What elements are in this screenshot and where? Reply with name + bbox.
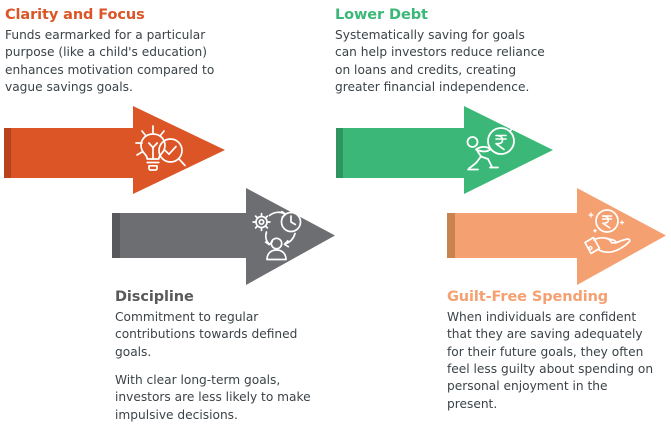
arrow-lower-debt-accent-tab [336,128,343,178]
text-block-guilt-free-spending: Guilt-Free Spending When individuals are… [447,288,659,413]
arrow-discipline-accent-tab [112,213,120,258]
heading-clarity: Clarity and Focus [5,6,215,24]
heading-discipline: Discipline [115,288,330,306]
arrow-guilt-free-spending [447,186,668,287]
body-guilt-free-p1: When individuals are confident that they… [447,309,659,413]
text-block-clarity: Clarity and Focus Funds earmarked for a … [5,6,215,96]
body-clarity-p1: Funds earmarked for a particular purpose… [5,27,215,96]
arrow-clarity-accent-tab [4,128,11,178]
text-block-lower-debt: Lower Debt Systematically saving for goa… [335,6,550,96]
arrow-guilt-free-body [455,188,666,285]
body-lower-debt-p1: Systematically saving for goals can help… [335,27,550,96]
body-discipline-p2: With clear long-term goals, investors ar… [115,372,330,424]
arrow-clarity-body [11,106,225,194]
arrow-lower-debt [336,106,555,194]
arrow-discipline-body [120,188,335,285]
infographic-canvas: Clarity and Focus Funds earmarked for a … [0,0,671,419]
heading-lower-debt: Lower Debt [335,6,550,24]
text-block-discipline: Discipline Commitment to regular contrib… [115,288,330,424]
heading-guilt-free-spending: Guilt-Free Spending [447,288,659,306]
arrow-guilt-free-accent-tab [447,213,455,258]
arrow-clarity [4,106,228,194]
arrow-discipline [112,186,338,287]
arrow-lower-debt-body [343,106,553,194]
body-discipline-p1: Commitment to regular contributions towa… [115,309,330,361]
